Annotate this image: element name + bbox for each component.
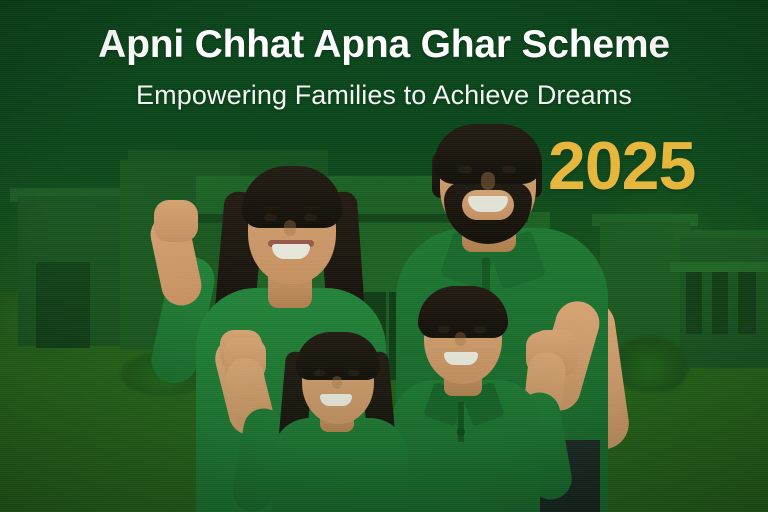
poster-title: Apni Chhat Apna Ghar Scheme [0,24,768,66]
mother-eye-right [304,214,317,221]
mother-eye-left [264,214,277,221]
father-smile [468,196,508,212]
boy-eye-left [438,326,450,333]
mother-nose [284,220,296,236]
girl-hair-top [296,332,380,380]
father-eye-left [458,166,472,173]
father-nose [481,172,495,190]
mother-eyebrow-right [301,205,320,210]
mother-fist-left [154,200,198,242]
boy-hair [418,286,508,338]
girl-eye-right [348,370,359,376]
boy-eyebrow-left [435,318,453,323]
poster-subtitle: Empowering Families to Achieve Dreams [0,80,768,111]
boy-eyebrow-right [471,318,489,323]
boy-shirt-button [457,428,465,436]
mother-eyebrow-left [261,205,280,210]
scheme-poster: Apni Chhat Apna Ghar Scheme Empowering F… [0,0,768,512]
girl-eyebrow-left [311,362,328,367]
girl-smile [320,394,352,406]
boy-eye-right [474,326,486,333]
boy-smile [444,352,478,365]
father-eyebrow-right [500,156,520,162]
father-eyebrow-left [455,156,475,162]
girl-eyebrow-right [345,362,362,367]
father-eye-right [502,166,516,173]
family-group [0,0,768,512]
girl-torso-shirt [272,418,408,512]
mother-smile [272,244,310,259]
boy-nose [455,332,466,346]
mother-hair-top [242,166,342,228]
poster-year: 2025 [548,132,728,200]
girl-nose [332,376,342,389]
boy-shirt-placket [458,402,464,442]
girl-eye-left [314,370,325,376]
